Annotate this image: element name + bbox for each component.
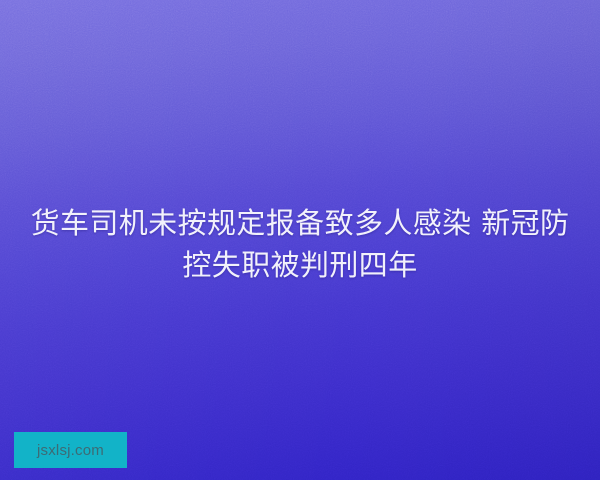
- watermark-label: jsxlsj.com: [37, 443, 104, 458]
- headline-text: 货车司机未按规定报备致多人感染 新冠防控失职被判刑四年: [0, 202, 600, 286]
- watermark-badge: jsxlsj.com: [14, 432, 127, 468]
- news-headline-card: 货车司机未按规定报备致多人感染 新冠防控失职被判刑四年 jsxlsj.com: [0, 0, 600, 480]
